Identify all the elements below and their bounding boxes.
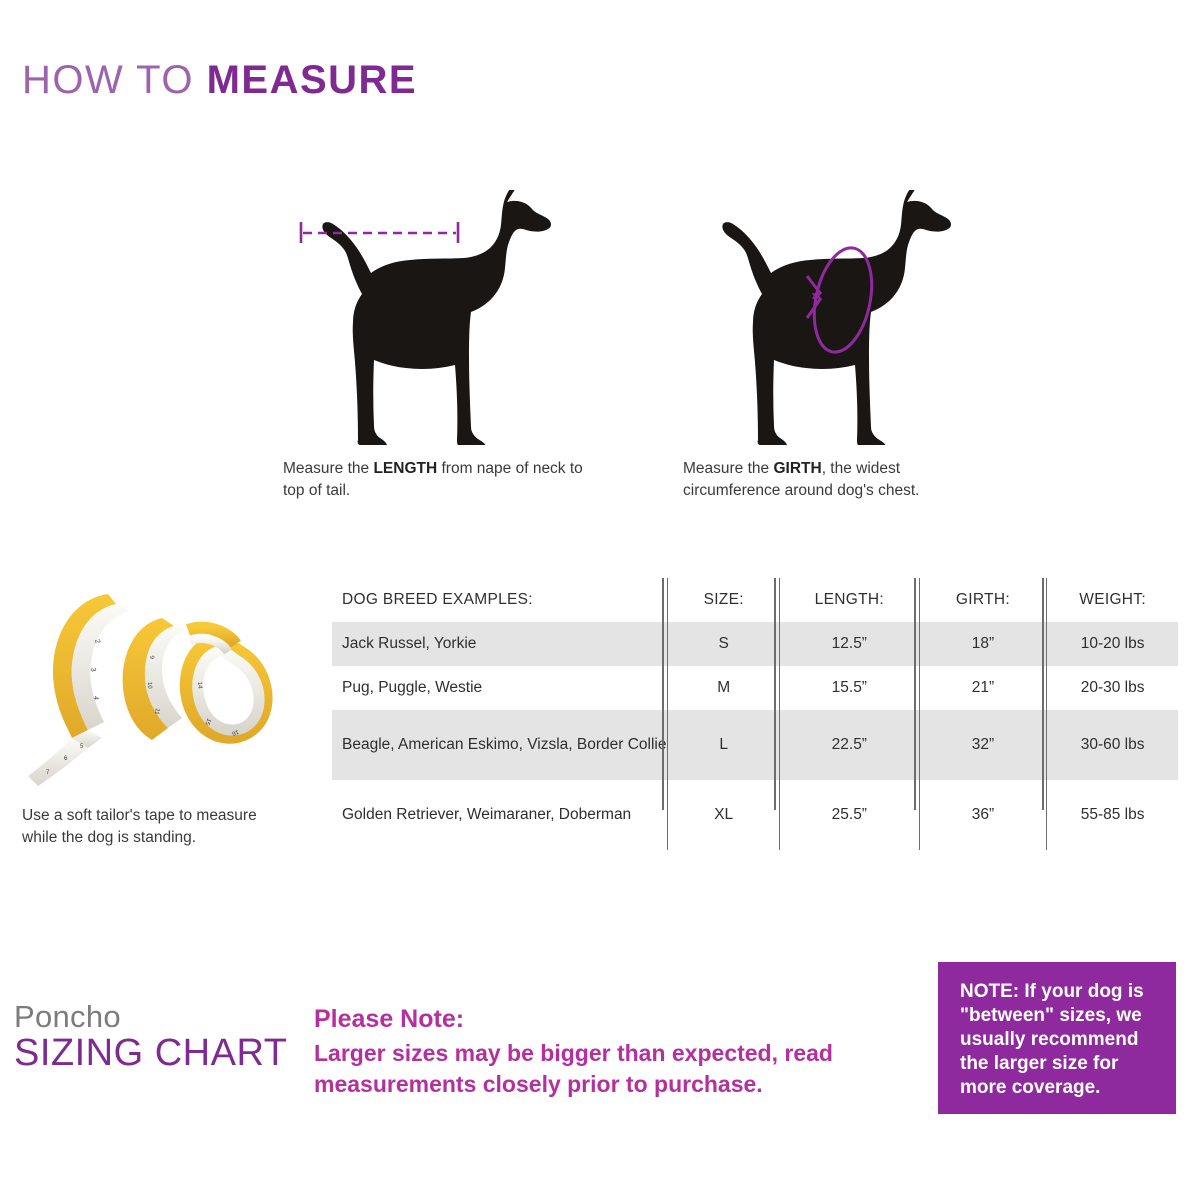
girth-diagram-panel: Measure the GIRTH, the widest circumfere… [655,190,1055,530]
cell-length: 25.5” [780,780,920,850]
cell-breed: Pug, Puggle, Westie [332,666,668,710]
cell-breed: Jack Russel, Yorkie [332,622,668,666]
length-caption: Measure the LENGTH from nape of neck to … [283,458,583,502]
cell-weight: 55-85 lbs [1047,780,1178,850]
cell-girth: 21” [919,666,1047,710]
svg-text:14: 14 [196,682,203,690]
svg-text:10: 10 [146,682,152,690]
page-title-part-2: MEASURE [207,58,418,102]
dog-silhouette-length-icon [255,190,555,445]
cell-length: 12.5” [780,622,920,666]
please-note-heading: Please Note: [314,1003,914,1036]
cell-size: M [668,666,780,710]
please-note-body: Larger sizes may be bigger than expected… [314,1038,914,1101]
note-box: NOTE: If your dog is "between" sizes, we… [938,962,1176,1114]
cell-breed: Beagle, American Eskimo, Vizsla, Border … [332,710,668,780]
girth-caption-pre: Measure the [683,460,773,477]
svg-text:2: 2 [93,639,101,645]
cell-girth: 32” [919,710,1047,780]
length-caption-bold: LENGTH [373,460,437,477]
brand-title: Poncho SIZING CHART [14,1000,287,1075]
cell-size: XL [668,780,780,850]
cell-breed: Golden Retriever, Weimaraner, Doberman [332,780,668,850]
cell-size: L [668,710,780,780]
length-diagram-panel: Measure the LENGTH from nape of neck to … [255,190,655,530]
length-caption-pre: Measure the [283,460,373,477]
brand-name: Poncho [14,1000,287,1033]
tape-measure-icon: 2 3 4 7 6 5 9 10 11 14 15 16 [12,578,284,793]
page-title: HOW TO MEASURE [22,58,417,103]
cell-weight: 10-20 lbs [1047,622,1178,666]
header-girth: GIRTH: [919,578,1047,622]
dog-silhouette-girth-icon [655,190,955,445]
svg-text:4: 4 [92,696,99,700]
table-row: Beagle, American Eskimo, Vizsla, Border … [332,710,1178,780]
header-size: SIZE: [668,578,780,622]
cell-weight: 30-60 lbs [1047,710,1178,780]
table-row: Pug, Puggle, Westie M 15.5” 21” 20-30 lb… [332,666,1178,710]
cell-size: S [668,622,780,666]
page-title-part-1: HOW TO [22,58,207,102]
cell-weight: 20-30 lbs [1047,666,1178,710]
sizing-table: DOG BREED EXAMPLES: SIZE: LENGTH: GIRTH:… [332,578,1178,850]
table-row: Golden Retriever, Weimaraner, Doberman X… [332,780,1178,850]
brand-subtitle: SIZING CHART [14,1033,287,1074]
table-header-row: DOG BREED EXAMPLES: SIZE: LENGTH: GIRTH:… [332,578,1178,622]
header-weight: WEIGHT: [1047,578,1178,622]
header-length: LENGTH: [780,578,920,622]
svg-text:3: 3 [89,667,96,672]
girth-caption-bold: GIRTH [773,460,821,477]
table-row: Jack Russel, Yorkie S 12.5” 18” 10-20 lb… [332,622,1178,666]
cell-girth: 18” [919,622,1047,666]
cell-length: 15.5” [780,666,920,710]
cell-length: 22.5” [780,710,920,780]
please-note-block: Please Note: Larger sizes may be bigger … [314,1003,914,1100]
girth-caption: Measure the GIRTH, the widest circumfere… [683,458,983,502]
cell-girth: 36” [919,780,1047,850]
tape-caption: Use a soft tailor's tape to measure whil… [22,805,267,850]
header-breed: DOG BREED EXAMPLES: [332,578,668,622]
note-box-text: NOTE: If your dog is "between" sizes, we… [960,980,1162,1100]
